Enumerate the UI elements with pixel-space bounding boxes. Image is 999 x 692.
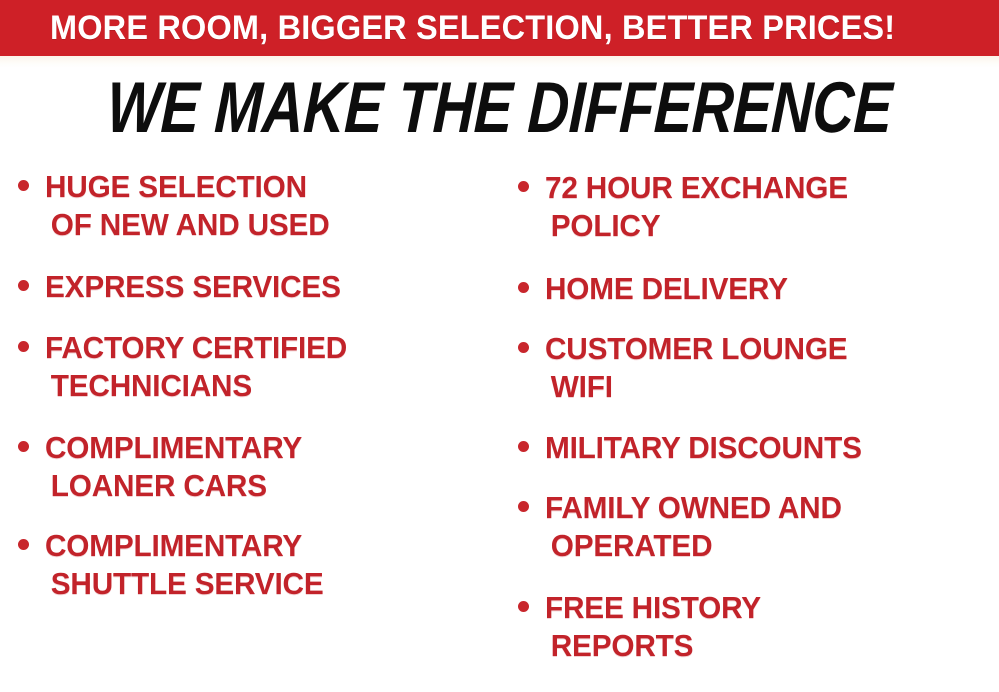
list-item: COMPLIMENTARY SHUTTLE SERVICE [18,527,500,603]
list-item-label: FAMILY OWNED AND OPERATED [545,489,842,565]
list-item-label: EXPRESS SERVICES [45,268,341,306]
list-item-label: COMPLIMENTARY LOANER CARS [45,429,302,505]
list-item: COMPLIMENTARY LOANER CARS [18,429,500,505]
list-item: HUGE SELECTION OF NEW AND USED [18,168,500,244]
list-item-line-2: OF NEW AND USED [45,206,330,244]
list-item-line-1: MILITARY DISCOUNTS [545,430,862,465]
bullet-dot-icon [518,282,529,293]
list-item-line-1: COMPLIMENTARY [45,528,302,563]
list-item-line-2: LOANER CARS [45,467,302,505]
bullet-dot-icon [518,441,529,452]
list-item-line-2: POLICY [545,207,848,245]
list-item-line-2: REPORTS [545,627,761,665]
list-item: FAMILY OWNED AND OPERATED [518,489,999,565]
list-item-label: HOME DELIVERY [545,270,788,308]
list-item-line-1: FREE HISTORY [545,590,761,625]
list-item-label: MILITARY DISCOUNTS [545,429,862,467]
bullet-dot-icon [18,280,29,291]
list-item-label: HUGE SELECTION OF NEW AND USED [45,168,330,244]
list-item-label: COMPLIMENTARY SHUTTLE SERVICE [45,527,323,603]
benefits-column-right: 72 HOUR EXCHANGE POLICY HOME DELIVERY CU… [500,160,999,692]
benefits-column-left: HUGE SELECTION OF NEW AND USED EXPRESS S… [0,160,500,692]
bullet-dot-icon [518,501,529,512]
list-item-line-2: SHUTTLE SERVICE [45,565,323,603]
promo-poster: MORE ROOM, BIGGER SELECTION, BETTER PRIC… [0,0,999,692]
top-banner: MORE ROOM, BIGGER SELECTION, BETTER PRIC… [0,0,999,56]
list-item-line-2: TECHNICIANS [45,367,347,405]
list-item: FREE HISTORY REPORTS [518,589,999,665]
list-item: HOME DELIVERY [518,270,999,308]
benefits-columns: HUGE SELECTION OF NEW AND USED EXPRESS S… [0,160,999,692]
list-item-line-2: OPERATED [545,527,842,565]
list-item-line-1: COMPLIMENTARY [45,430,302,465]
list-item-label: 72 HOUR EXCHANGE POLICY [545,169,848,245]
bullet-dot-icon [18,441,29,452]
bullet-dot-icon [18,539,29,550]
list-item-line-1: FACTORY CERTIFIED [45,330,347,365]
list-item-line-1: HOME DELIVERY [545,271,788,306]
list-item-label: FACTORY CERTIFIED TECHNICIANS [45,329,347,405]
headline-container: WE MAKE THE DIFFERENCE [0,68,999,148]
list-item-label: FREE HISTORY REPORTS [545,589,761,665]
list-item: FACTORY CERTIFIED TECHNICIANS [18,329,500,405]
bullet-dot-icon [518,342,529,353]
list-item-label: CUSTOMER LOUNGE WIFI [545,330,847,406]
bullet-dot-icon [518,181,529,192]
top-banner-text: MORE ROOM, BIGGER SELECTION, BETTER PRIC… [50,11,895,45]
bullet-dot-icon [18,180,29,191]
list-item-line-2: WIFI [545,368,847,406]
list-item-line-1: FAMILY OWNED AND [545,490,842,525]
list-item: EXPRESS SERVICES [18,268,500,306]
list-item-line-1: EXPRESS SERVICES [45,269,341,304]
list-item: 72 HOUR EXCHANGE POLICY [518,169,999,245]
list-item-line-1: 72 HOUR EXCHANGE [545,170,848,205]
list-item-line-1: CUSTOMER LOUNGE [545,331,847,366]
list-item: MILITARY DISCOUNTS [518,429,999,467]
bullet-dot-icon [18,341,29,352]
banner-underline-strip [0,56,999,68]
page-title: WE MAKE THE DIFFERENCE [106,72,894,144]
list-item: CUSTOMER LOUNGE WIFI [518,330,999,406]
list-item-line-1: HUGE SELECTION [45,169,307,204]
bullet-dot-icon [518,601,529,612]
